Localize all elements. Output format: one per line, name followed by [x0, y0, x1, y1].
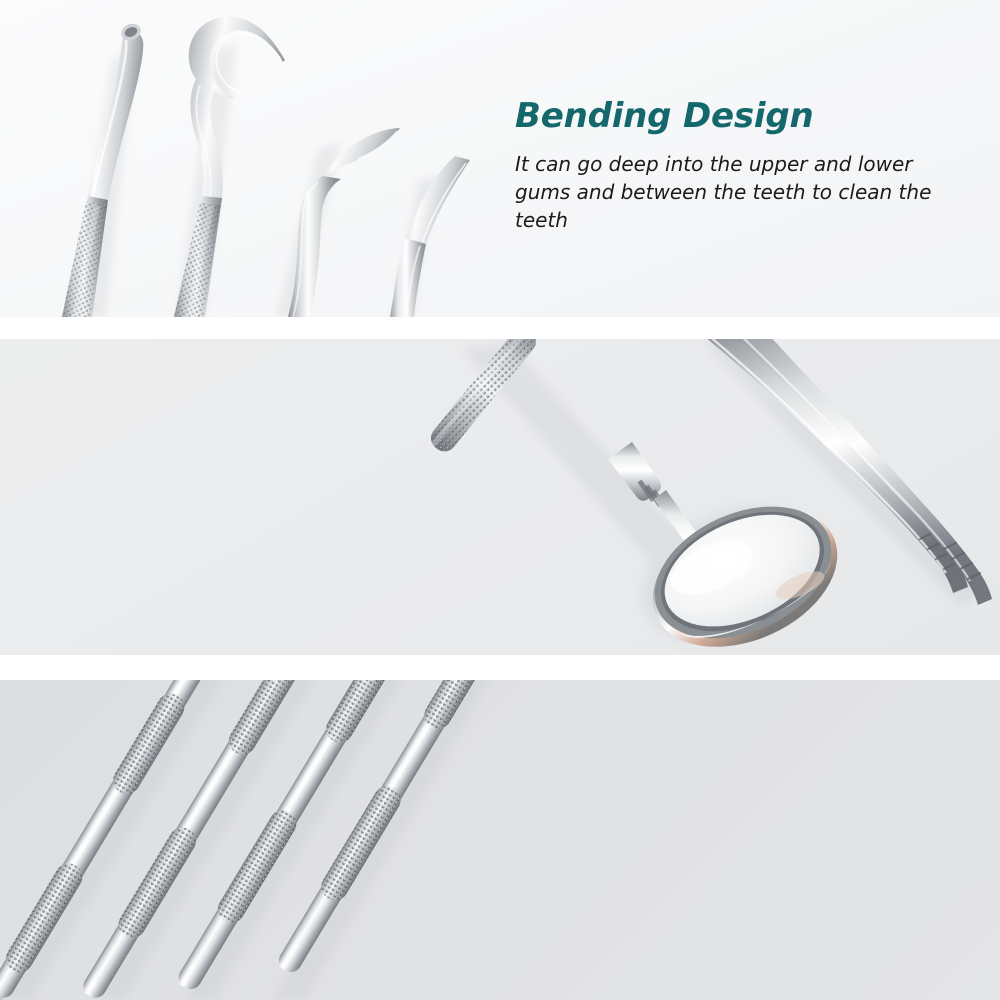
instrument-sickle-hook-scaler	[174, 17, 285, 317]
feature-heading: Bending Design	[515, 96, 945, 136]
feature-panel-observation-tool: Observation Tool You can see the hard-to…	[0, 339, 1000, 655]
feature-panel-bending-design: Bending Design It can go deep into the u…	[0, 0, 1000, 317]
instrument-knurled-handle-2	[78, 680, 307, 1000]
feature-body: It can go deep into the upper and lower …	[515, 150, 935, 234]
instrument-mouth-mirror	[426, 339, 859, 655]
infographic-root: Bending Design It can go deep into the u…	[0, 0, 1000, 1000]
instrument-knurled-handle-1	[0, 680, 215, 1000]
instrument-spoon-excavator	[62, 21, 143, 317]
feature-text-bending-design: Bending Design It can go deep into the u…	[515, 96, 945, 234]
instrument-knurled-handle-4	[273, 680, 502, 977]
dental-picks-photo	[0, 0, 500, 317]
instrument-flat-chisel-scaler	[390, 156, 470, 317]
instrument-leaf-shaped-probe	[288, 128, 400, 317]
feature-panel-non-slip-handle: Simple Non-Slip Handle Strong grip,diamo…	[0, 680, 1000, 1000]
knurled-handles-photo	[0, 680, 560, 1000]
instrument-knurled-handle-3	[173, 680, 402, 994]
instrument-curved-dental-tweezers	[700, 339, 992, 605]
mirror-and-tweezers-photo	[400, 339, 1000, 655]
